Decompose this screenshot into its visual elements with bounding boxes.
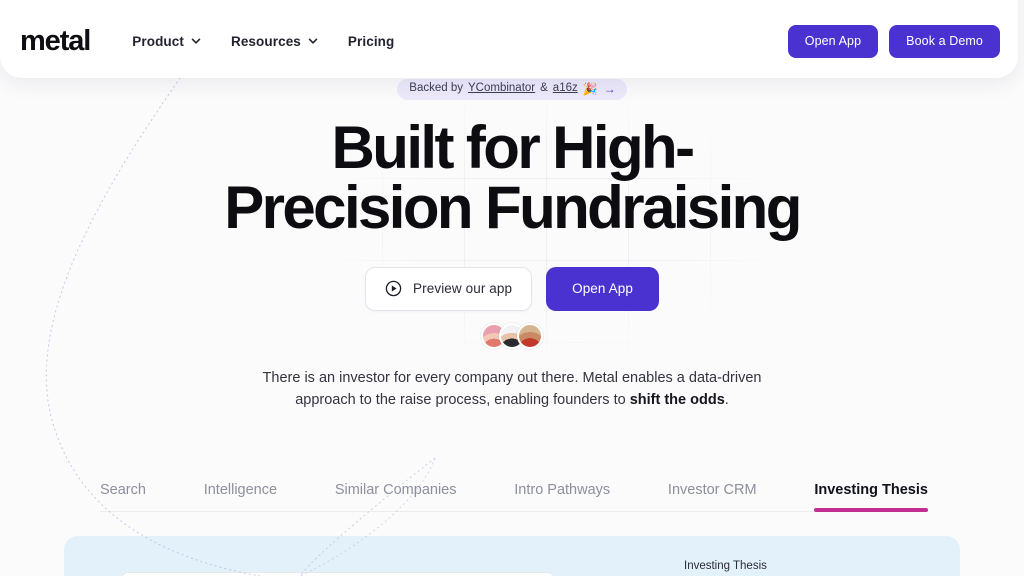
hero-subtext: There is an investor for every company o… [242, 367, 782, 412]
nav-actions: Open App Book a Demo [788, 25, 1000, 58]
tab-intro-pathways[interactable]: Intro Pathways [514, 482, 610, 511]
hero-subtext-part2: . [725, 392, 729, 408]
arrow-right-icon: → [604, 83, 616, 95]
chevron-down-icon [308, 36, 318, 46]
hero-open-app-button[interactable]: Open App [546, 267, 659, 311]
badge-ampersand: & [540, 83, 548, 95]
preview-app-label: Preview our app [413, 281, 512, 296]
tab-investing-thesis[interactable]: Investing Thesis [814, 482, 928, 511]
preview-panel-label: Investing Thesis [684, 560, 767, 572]
headline-line-2: Precision Fundraising [0, 178, 1024, 238]
tab-search[interactable]: Search [100, 482, 146, 511]
tab-intelligence[interactable]: Intelligence [204, 482, 277, 511]
badge-link-a16z[interactable]: a16z [553, 83, 578, 95]
nav-links: Product Resources Pricing [132, 34, 394, 49]
hero-cta-row: Preview our app Open App [0, 267, 1024, 311]
landing-page: metal Product Resources Pricing [0, 0, 1024, 576]
play-circle-icon [385, 280, 402, 297]
nav-book-demo-button[interactable]: Book a Demo [889, 25, 1000, 58]
avatar [517, 323, 543, 349]
logo[interactable]: metal [20, 27, 90, 56]
avatar-group [0, 323, 1024, 349]
headline-line-1: Built for High- [332, 114, 693, 181]
nav-item-product-label: Product [132, 34, 184, 49]
badge-link-ycombinator[interactable]: YCombinator [468, 83, 535, 95]
party-popper-icon: 🎉 [583, 83, 598, 95]
nav-open-app-button[interactable]: Open App [788, 25, 878, 58]
top-navbar: metal Product Resources Pricing [0, 0, 1018, 78]
hero-subtext-bold: shift the odds [630, 392, 725, 408]
backed-by-badge[interactable]: Backed by YCombinator & a16z 🎉 → [397, 79, 626, 100]
page-title: Built for High- Precision Fundraising [0, 118, 1024, 238]
tab-similar-companies[interactable]: Similar Companies [335, 482, 457, 511]
tab-investor-crm[interactable]: Investor CRM [668, 482, 757, 511]
feature-tabs: Search Intelligence Similar Companies In… [100, 482, 928, 512]
chevron-down-icon [191, 36, 201, 46]
hero-section: Backed by YCombinator & a16z 🎉 → Built f… [0, 78, 1024, 412]
nav-item-pricing-label: Pricing [348, 34, 394, 49]
badge-prefix: Backed by [409, 83, 463, 95]
preview-app-button[interactable]: Preview our app [365, 267, 532, 311]
nav-item-resources-label: Resources [231, 34, 301, 49]
nav-item-product[interactable]: Product [132, 34, 201, 49]
nav-item-pricing[interactable]: Pricing [348, 34, 394, 49]
preview-card [120, 572, 556, 576]
preview-panel: Investing Thesis [64, 536, 960, 576]
nav-item-resources[interactable]: Resources [231, 34, 318, 49]
